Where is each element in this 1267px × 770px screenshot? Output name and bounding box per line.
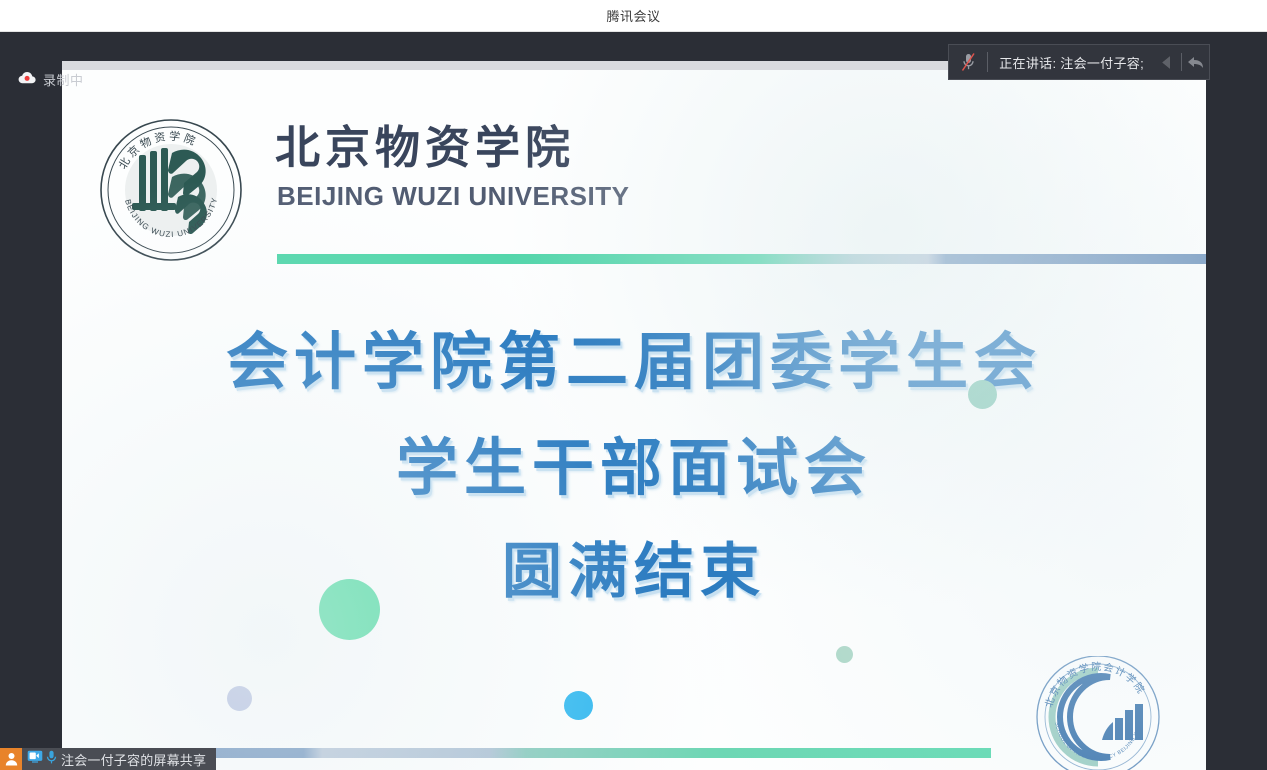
beijing-wuzi-university-seal: 北京物资学院 BEIJING WUZI UNIVERSITY bbox=[98, 117, 244, 263]
recording-label: 录制中 bbox=[43, 70, 84, 89]
university-name-cn: 北京物资学院 bbox=[275, 126, 575, 171]
mic-muted-icon[interactable] bbox=[949, 52, 987, 72]
presentation-slide: 北京物资学院 BEIJING WUZI UNIVERSITY 北京物资学院 BE… bbox=[62, 70, 1206, 770]
school-of-accountancy-seal: 北京物资学院会计学院 SCHOOL OF ACCOUNTANCY BEIJING… bbox=[1022, 656, 1174, 770]
slide-title-line-2: 学生干部面试会 bbox=[62, 438, 1206, 500]
decorative-dot-lavender bbox=[227, 686, 252, 711]
university-name-en: BEIJING WUZI UNIVERSITY bbox=[277, 183, 629, 209]
slide-title-line-1: 会计学院第二届团委学生会 bbox=[62, 332, 1206, 394]
return-arrow-icon[interactable] bbox=[1182, 44, 1209, 80]
mic-icon[interactable] bbox=[46, 750, 57, 769]
decorative-bar-top bbox=[277, 254, 1206, 264]
decorative-dot-cyan bbox=[564, 691, 593, 720]
active-speaker-text: 正在讲话: 注会一付子容; bbox=[988, 53, 1154, 72]
cloud-recording-icon bbox=[18, 71, 36, 89]
shared-screen-region[interactable]: 北京物资学院 BEIJING WUZI UNIVERSITY 北京物资学院 BE… bbox=[62, 61, 1206, 770]
decorative-dot-green-large bbox=[319, 579, 380, 640]
tencent-meeting-window: 腾讯会议 录制中 bbox=[0, 0, 1267, 770]
recording-indicator: 录制中 bbox=[18, 70, 84, 89]
decorative-dot-sage bbox=[968, 380, 997, 409]
meeting-video-frame: 录制中 bbox=[0, 32, 1267, 770]
person-icon bbox=[0, 748, 22, 770]
collapse-icon[interactable] bbox=[1154, 44, 1181, 80]
active-speaker-overlay[interactable]: 正在讲话: 注会一付子容; bbox=[948, 44, 1210, 80]
slide-title-line-3: 圆满结束 bbox=[62, 542, 1206, 602]
window-title: 腾讯会议 bbox=[606, 6, 660, 25]
window-titlebar: 腾讯会议 bbox=[0, 0, 1267, 32]
screen-share-icon[interactable] bbox=[27, 750, 43, 768]
decorative-dot-sage-small bbox=[836, 646, 853, 663]
screen-share-status-text: 注会一付子容的屏幕共享 bbox=[61, 750, 216, 769]
statusbar-icons bbox=[22, 750, 61, 769]
screen-share-statusbar: 注会一付子容的屏幕共享 bbox=[0, 748, 216, 770]
